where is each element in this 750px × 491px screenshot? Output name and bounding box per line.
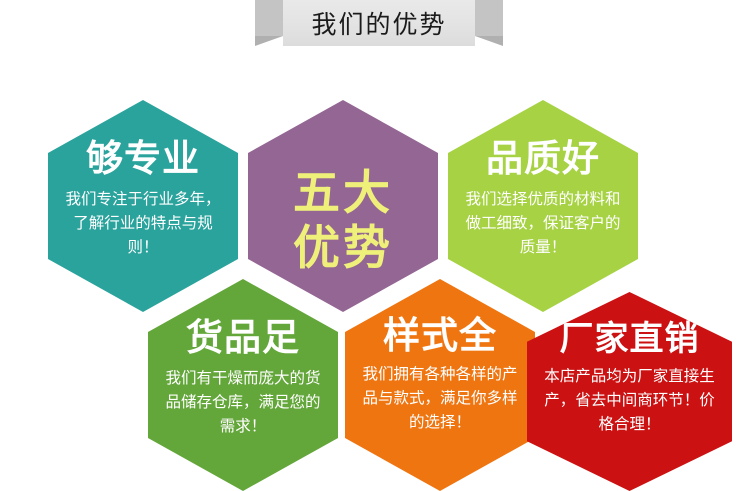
hexagon-title: 品质好 — [486, 140, 600, 179]
hexagon-title: 货品足 — [186, 319, 300, 358]
hexagon-five-advantages[interactable]: 五大优势 — [248, 100, 438, 312]
hexagon-styles[interactable]: 样式全 我们拥有各种各样的产品与款式，满足你多样的选择！ — [345, 279, 535, 491]
hexagon-description: 我们有干燥而庞大的货品储存仓库，满足您的需求！ — [148, 366, 338, 438]
hexagon-description: 本店产品均为厂家直接生产，省去中间商环节！价格合理！ — [527, 364, 732, 436]
hexagon-description: 我们选择优质的材料和做工细致，保证客户的质量！ — [448, 187, 638, 259]
ribbon-fold-left-icon — [255, 36, 283, 46]
ribbon-tab-left — [255, 0, 283, 36]
hexagon-title: 够专业 — [86, 140, 200, 179]
hexagon-title: 五大优势 — [288, 166, 398, 277]
hexagon-description: 我们拥有各种各样的产品与款式，满足你多样的选择！ — [345, 362, 535, 434]
hexagon-description: 我们专注于行业多年，了解行业的特点与规则！ — [48, 187, 238, 259]
hexagon-professional[interactable]: 够专业 我们专注于行业多年，了解行业的特点与规则！ — [48, 100, 238, 312]
hexagon-factory-direct[interactable]: 厂家直销 本店产品均为厂家直接生产，省去中间商环节！价格合理！ — [527, 292, 732, 491]
hexagon-title: 厂家直销 — [560, 322, 700, 358]
header-ribbon: 我们的优势 — [255, 0, 503, 46]
hexagon-stock[interactable]: 货品足 我们有干燥而庞大的货品储存仓库，满足您的需求！ — [148, 279, 338, 491]
ribbon-tab-right — [475, 0, 503, 36]
infographic-canvas: 我们的优势 够专业 我们专注于行业多年，了解行业的特点与规则！ 五大优势 品质好… — [0, 0, 750, 491]
page-title: 我们的优势 — [283, 0, 475, 46]
hexagon-title: 样式全 — [383, 317, 497, 356]
ribbon-fold-right-icon — [475, 36, 503, 46]
hexagon-quality[interactable]: 品质好 我们选择优质的材料和做工细致，保证客户的质量！ — [448, 100, 638, 312]
